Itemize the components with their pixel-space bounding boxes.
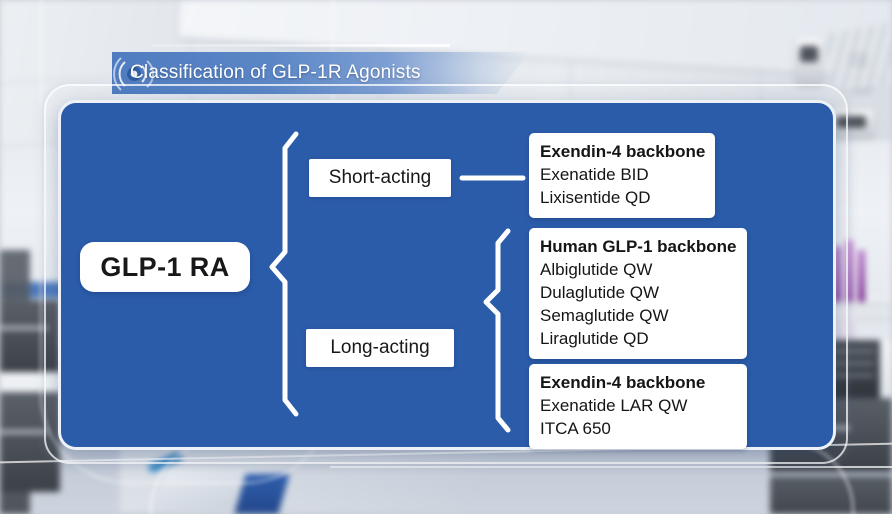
leaf-item: Liraglutide QD <box>540 327 736 350</box>
background-ceiling-lamp <box>796 38 822 84</box>
decorative-line <box>330 466 892 468</box>
leaf-item: Semaglutide QW <box>540 304 736 327</box>
leaf-heading: Exendin-4 backbone <box>540 140 704 163</box>
slide-canvas: Classification of GLP-1R Agonists GLP-1 … <box>0 0 892 514</box>
page-title: Classification of GLP-1R Agonists <box>130 60 530 86</box>
leaf-box-long-acting-exendin[interactable]: Exendin-4 backbone Exenatide LAR QW ITCA… <box>529 364 747 449</box>
leaf-item: ITCA 650 <box>540 417 736 440</box>
leaf-item: Exenatide BID <box>540 163 704 186</box>
leaf-box-short-acting-exendin[interactable]: Exendin-4 backbone Exenatide BID Lixisen… <box>529 133 715 218</box>
leaf-item: Albiglutide QW <box>540 258 736 281</box>
node-root[interactable]: GLP-1 RA <box>80 242 250 292</box>
leaf-item: Dulaglutide QW <box>540 281 736 304</box>
leaf-heading: Human GLP-1 backbone <box>540 235 736 258</box>
background-vent <box>823 22 892 93</box>
leaf-heading: Exendin-4 backbone <box>540 371 736 394</box>
background-vial <box>858 250 865 302</box>
leaf-item: Lixisentide QD <box>540 186 704 209</box>
leaf-box-long-acting-human[interactable]: Human GLP-1 backbone Albiglutide QW Dula… <box>529 228 747 359</box>
node-long-acting[interactable]: Long-acting <box>306 329 454 367</box>
node-short-acting[interactable]: Short-acting <box>309 159 451 197</box>
title-highlight-line <box>150 44 450 47</box>
leaf-item: Exenatide LAR QW <box>540 394 736 417</box>
